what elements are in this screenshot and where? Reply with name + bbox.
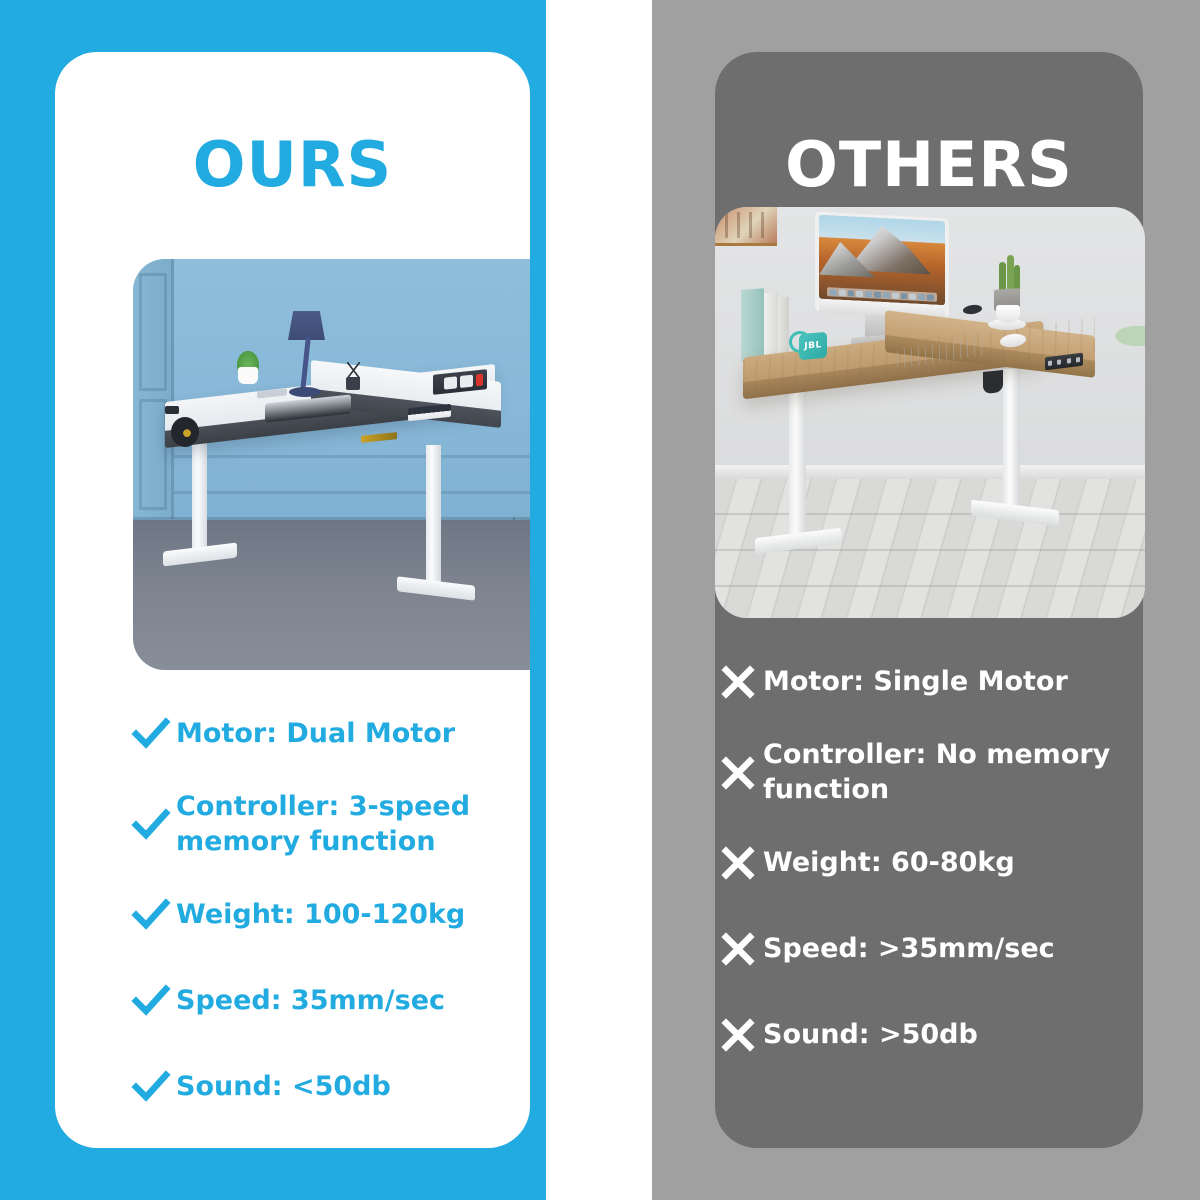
- headphones-icon: [171, 417, 199, 447]
- feature-row: Controller: No memory function: [716, 738, 1136, 807]
- feature-row: Sound: <50db: [129, 1057, 530, 1117]
- cross-icon: [716, 660, 760, 704]
- cactus: [999, 262, 1006, 292]
- ours-product-photo: [133, 259, 530, 670]
- monitor-screen: [819, 215, 945, 306]
- check-icon: [129, 893, 173, 937]
- desk-lamp-shade: [288, 311, 325, 340]
- feature-row: Motor: Dual Motor: [129, 704, 530, 764]
- others-product-photo: JBL: [715, 207, 1145, 618]
- feature-label: Sound: <50db: [176, 1070, 391, 1105]
- feature-label: Controller: 3-speed memory function: [176, 790, 470, 859]
- others-feature-list: Motor: Single Motor Controller: No memor…: [716, 652, 1136, 1091]
- comparison-board: OURS: [0, 0, 1200, 1200]
- feature-label: Sound: >50db: [763, 1018, 978, 1053]
- feature-label: Motor: Dual Motor: [176, 717, 455, 752]
- cross-icon: [716, 841, 760, 885]
- check-icon: [129, 1065, 173, 1109]
- feature-label: Speed: >35mm/sec: [763, 932, 1055, 967]
- ours-card: OURS: [55, 52, 530, 1148]
- cable-bag: [983, 370, 1003, 394]
- feature-row: Controller: 3-speed memory function: [129, 790, 530, 859]
- cross-icon: [716, 1013, 760, 1057]
- bluetooth-speaker: JBL: [799, 332, 827, 360]
- feature-row: Weight: 100-120kg: [129, 885, 530, 945]
- wall-groove: [163, 491, 530, 494]
- ours-feature-list: Motor: Dual Motor Controller: 3-speed me…: [129, 704, 530, 1143]
- check-icon: [129, 803, 173, 847]
- cactus: [1007, 255, 1014, 292]
- feature-label: Weight: 60-80kg: [763, 846, 1015, 881]
- ours-title: OURS: [55, 134, 530, 196]
- feature-row: Speed: 35mm/sec: [129, 971, 530, 1031]
- door-trim: [133, 259, 174, 519]
- wall-art: [715, 207, 777, 246]
- check-icon: [129, 712, 173, 756]
- desk-lamp-base: [289, 387, 321, 397]
- book: [741, 288, 764, 362]
- feature-row: Speed: >35mm/sec: [716, 919, 1136, 979]
- desk-leg-right: [426, 445, 441, 588]
- leaf-decor: [1109, 323, 1145, 349]
- ours-panel: OURS: [0, 0, 546, 1200]
- feature-label: Controller: No memory function: [763, 738, 1110, 807]
- feature-label: Speed: 35mm/sec: [176, 984, 445, 1019]
- cross-icon: [716, 751, 760, 795]
- door-panel: [139, 273, 167, 391]
- coffee-cup: [996, 305, 1020, 323]
- wall-groove: [163, 455, 530, 458]
- feature-label: Motor: Single Motor: [763, 665, 1068, 700]
- desk-leg-left: [789, 379, 806, 539]
- others-title: OTHERS: [715, 134, 1143, 196]
- check-icon: [129, 979, 173, 1023]
- plant-pot: [238, 367, 258, 384]
- desk-leg-right: [1003, 369, 1020, 511]
- cross-icon: [716, 927, 760, 971]
- pen-holder: [346, 377, 360, 390]
- feature-label: Weight: 100-120kg: [176, 898, 465, 933]
- feature-row: Sound: >50db: [716, 1005, 1136, 1065]
- feature-row: Motor: Single Motor: [716, 652, 1136, 712]
- baseboard: [715, 465, 1145, 479]
- cable-clip: [165, 406, 179, 414]
- feature-row: Weight: 60-80kg: [716, 833, 1136, 893]
- door-panel: [139, 399, 167, 510]
- speaker-brand-label: JBL: [804, 340, 821, 352]
